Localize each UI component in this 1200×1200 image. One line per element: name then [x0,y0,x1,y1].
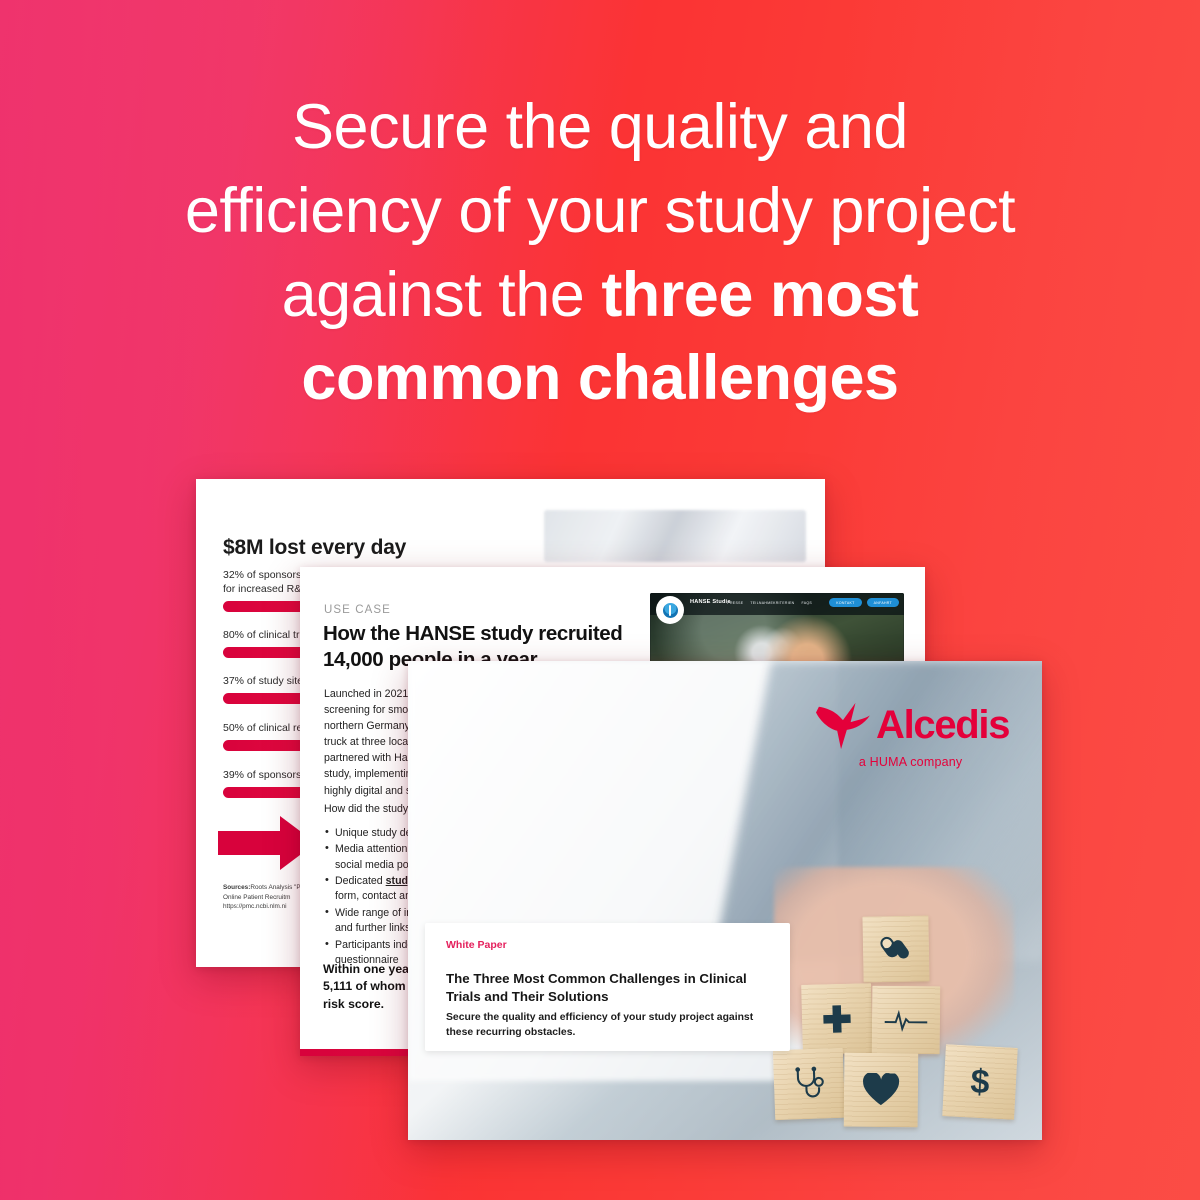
pills-icon [862,915,929,982]
alcedis-wordmark: Alcedis [876,705,1009,745]
page-title: Secure the quality and efficiency of you… [60,86,1140,421]
heartbeat-icon [872,986,941,1055]
card-whitepaper[interactable]: $ Alcedis a HUMA company White Paper The… [408,661,1042,1140]
whitepaper-eyebrow: White Paper [446,939,507,951]
headline-line-3-prefix: against the [282,260,602,330]
medical-cross-icon [801,983,873,1055]
browser-buttons[interactable]: KONTAKT ANFAHRT [829,598,899,607]
dollar-icon: $ [942,1044,1018,1120]
list-item-text: Wide range of in and further links [335,907,412,934]
stethoscope-icon [773,1048,845,1120]
nav-link[interactable]: PRESSE [727,601,743,605]
hanse-drop-icon [656,596,684,624]
headline-line-3: against the three most [60,254,1140,338]
infographic-title: $8M lost every day [223,536,406,560]
promo-graphic: Secure the quality and efficiency of you… [0,0,1200,1200]
usecase-eyebrow: USE CASE [324,604,391,616]
whitepaper-title: The Three Most Common Challenges in Clin… [446,970,766,1005]
headline-line-1: Secure the quality and [60,86,1140,170]
infographic-photo [544,510,806,562]
whitepaper-textbox: White Paper The Three Most Common Challe… [425,923,790,1051]
alcedis-tagline: a HUMA company [859,755,963,769]
hummingbird-icon [812,699,872,751]
nav-link[interactable]: FAQS [801,601,812,605]
nav-link[interactable]: TEILNAHMEKRITERIEN [750,601,794,605]
headline-line-3-bold: three most [601,260,918,330]
headline-line-4: common challenges [60,337,1140,421]
alcedis-logo: Alcedis a HUMA company [812,699,1009,769]
whitepaper-subtitle: Secure the quality and efficiency of you… [446,1011,766,1040]
contact-button[interactable]: KONTAKT [829,598,861,607]
headline-line-2: efficiency of your study project [60,170,1140,254]
sources-heading: Sources: [223,884,250,891]
browser-nav-links[interactable]: PRESSE TEILNAHMEKRITERIEN FAQS [727,601,812,605]
list-item-text: Media attention t social media pos [335,843,414,870]
directions-button[interactable]: ANFAHRT [867,598,899,607]
list-item-text: Unique study de [335,827,412,839]
heart-icon [844,1053,919,1128]
headline-line-4-bold: common challenges [301,343,898,413]
browser-brand: HANSE Studie [690,599,731,605]
list-item-text: Dedicated [335,875,386,887]
list-item-text-cont: form, contact an [335,890,411,902]
